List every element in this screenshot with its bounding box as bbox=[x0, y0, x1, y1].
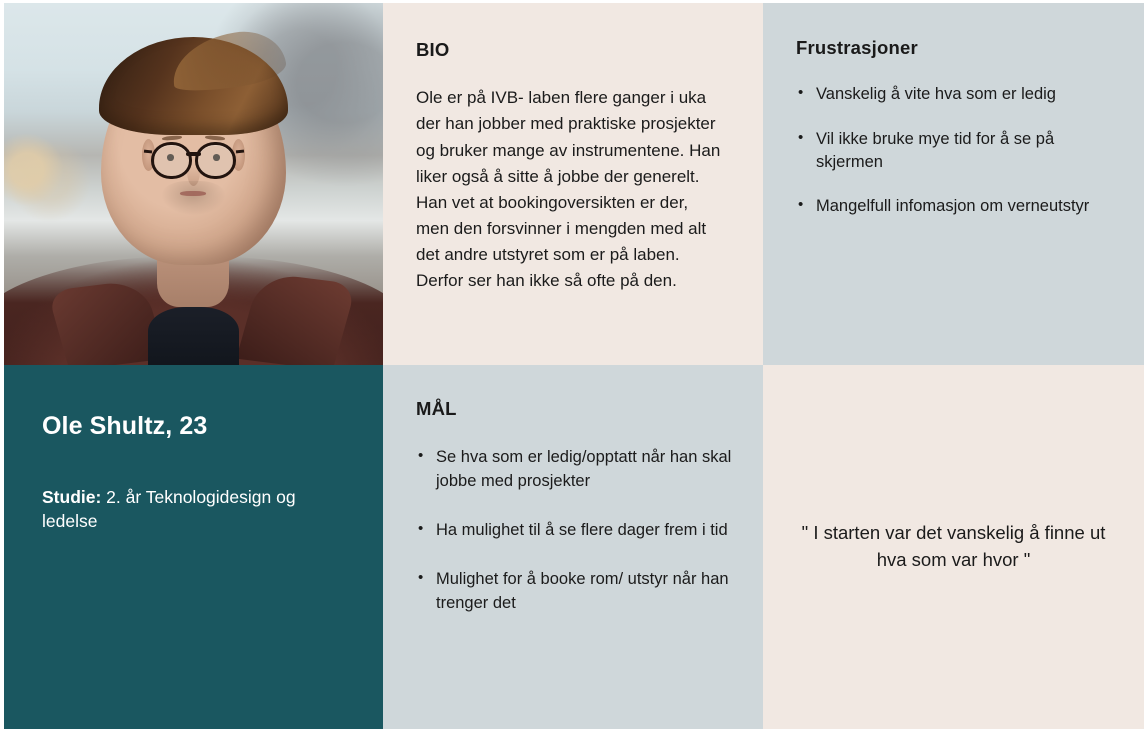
list-item: Ha mulighet til å se flere dager frem i … bbox=[416, 519, 733, 542]
shirt-shape bbox=[148, 307, 239, 365]
glasses-temple-right bbox=[236, 149, 244, 153]
eyeglasses-icon bbox=[151, 142, 236, 173]
quote-panel: " I starten var det vanskelig å finne ut… bbox=[763, 365, 1144, 729]
frustrations-title: Frustrasjoner bbox=[796, 37, 1114, 59]
persona-quote: " I starten var det vanskelig å finne ut… bbox=[799, 520, 1109, 574]
stubble-shading bbox=[162, 181, 225, 215]
bio-panel: BIO Ole er på IVB- laben flere ganger i … bbox=[383, 3, 763, 365]
persona-board: BIO Ole er på IVB- laben flere ganger i … bbox=[4, 3, 1144, 729]
goals-list: Se hva som er ledig/opptatt når han skal… bbox=[416, 446, 733, 615]
bio-text: Ole er på IVB- laben flere ganger i uka … bbox=[416, 85, 725, 294]
study-line: Studie: 2. år Teknologidesign og ledelse bbox=[42, 485, 342, 533]
frustrations-panel: Frustrasjoner Vanskelig å vite hva som e… bbox=[763, 3, 1144, 365]
goals-title: MÅL bbox=[416, 398, 733, 420]
goals-panel: MÅL Se hva som er ledig/opptatt når han … bbox=[383, 365, 763, 729]
glasses-temple-left bbox=[143, 149, 151, 153]
bio-title: BIO bbox=[416, 39, 725, 61]
identity-panel: Ole Shultz, 23 Studie: 2. år Teknologide… bbox=[4, 365, 383, 729]
lens-left bbox=[151, 142, 192, 179]
list-item: Vanskelig å vite hva som er ledig bbox=[796, 83, 1114, 106]
glasses-bridge bbox=[186, 152, 201, 156]
page-title: Ole Shultz, 23 bbox=[42, 412, 349, 441]
lens-right bbox=[195, 142, 236, 179]
frustrations-list: Vanskelig å vite hva som er ledig Vil ik… bbox=[796, 83, 1114, 219]
list-item: Mulighet for å booke rom/ utstyr når han… bbox=[416, 568, 733, 615]
list-item: Se hva som er ledig/opptatt når han skal… bbox=[416, 446, 733, 493]
study-label: Studie: bbox=[42, 487, 101, 507]
list-item: Mangelfull infomasjon om verneutstyr bbox=[796, 195, 1114, 218]
persona-photo bbox=[4, 3, 383, 365]
list-item: Vil ikke bruke mye tid for å se på skjer… bbox=[796, 128, 1114, 175]
